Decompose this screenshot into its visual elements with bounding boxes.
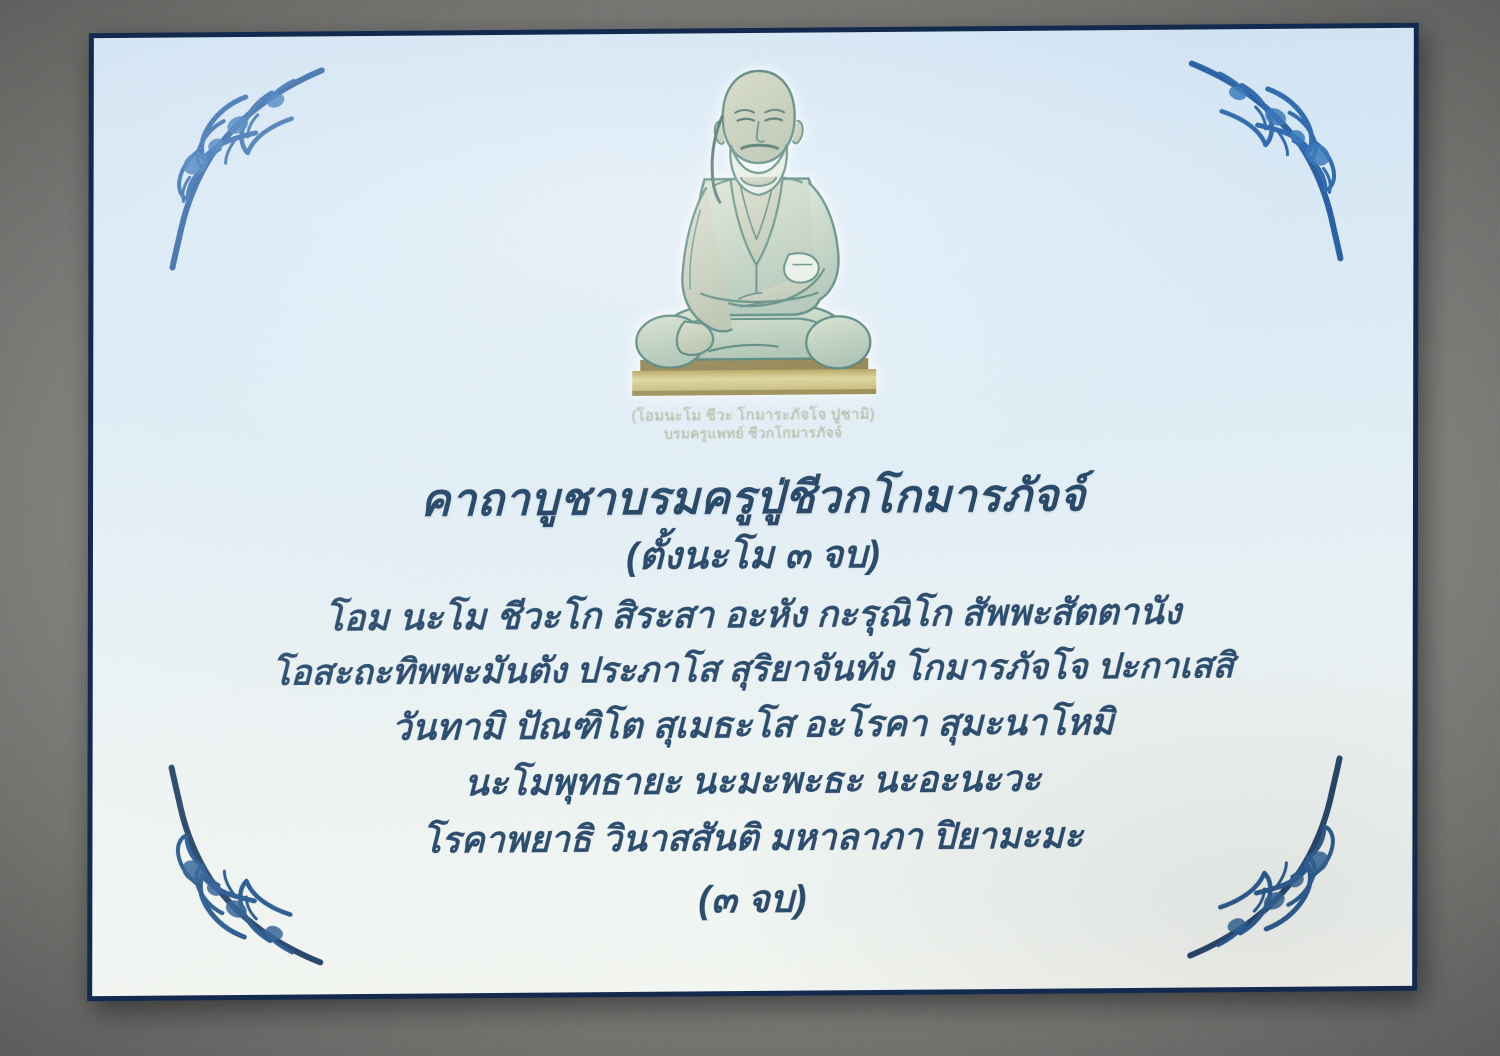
prayer-line: โอสะถะทิพพะมันตัง ประภาโส สุริยาจันทัง โ… (153, 638, 1353, 702)
prayer-subtitle: (ตั้งนะโม ๓ จบ) (153, 528, 1353, 585)
prayer-line: นะโมพุทธายะ นะมะพะธะ นะอะนะวะ (152, 749, 1352, 815)
jivaka-statue-icon (588, 58, 919, 409)
prayer-line: โอม นะโม ชีวะโก สิระสา อะหัง กะรุณิโก สั… (153, 582, 1353, 648)
statue-body (636, 175, 870, 369)
prayer-repeat-count: (๓ จบ) (152, 867, 1352, 933)
prayer-placard: (โอมนะโม ชีวะ โกมาระภัจโจ ปูชามิ) บรมครู… (87, 23, 1419, 1001)
statue-caption-line-1: (โอมนะโม ชีวะ โกมาระภัจโจ ปูชามิ) (632, 406, 875, 426)
statue-caption-line-2: บรมครูแพทย์ ชีวกโกมารภัจจ์ (664, 425, 842, 443)
placard-wrapper: (โอมนะโม ชีวะ โกมาระภัจโจ ปูชามิ) บรมครู… (87, 23, 1419, 1001)
prayer-text-block: คาถาบูชาบรมครูปู่ชีวกโกมารภัจจ์ (ตั้งนะโ… (152, 466, 1353, 933)
prayer-title: คาถาบูชาบรมครูปู่ชีวกโกมารภัจจ์ (153, 466, 1353, 529)
statue-block: (โอมนะโม ชีวะ โกมาระภัจโจ ปูชามิ) บรมครู… (93, 54, 1414, 448)
prayer-line: วันทามิ ปัณฑิโต สุเมธะโส อะโรคา สุมะนาโห… (153, 693, 1353, 759)
prayer-line: โรคาพยาธิ วินาสสันติ มหาลาภา ปิยามะมะ (152, 805, 1352, 871)
